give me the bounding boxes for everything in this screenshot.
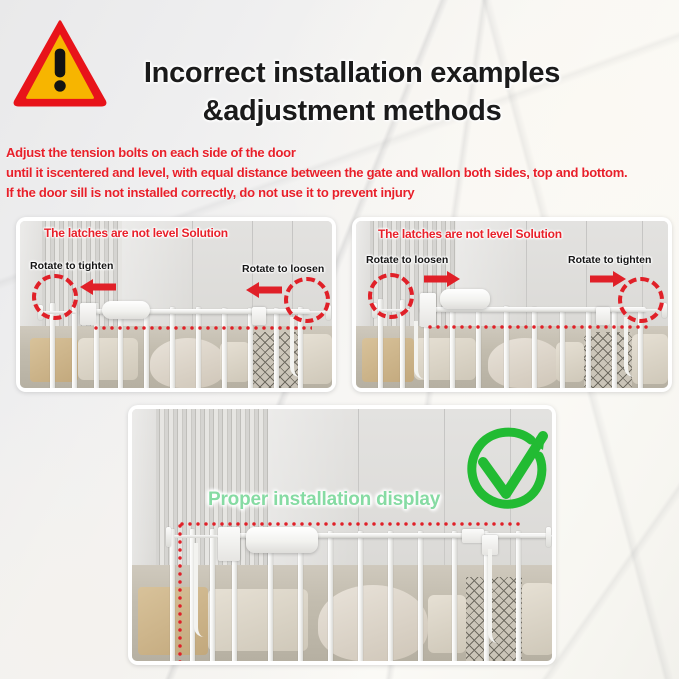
reference-line-right bbox=[426, 325, 648, 329]
panel-incorrect-left: The latches are not level Solution Rotat… bbox=[16, 217, 336, 392]
label-rotate-tighten-left: Rotate to tighten bbox=[30, 260, 113, 272]
title-line-1: Incorrect installation examples bbox=[112, 54, 592, 92]
highlight-circle-left-bolt bbox=[32, 274, 78, 320]
highlight-circle-right-bolt bbox=[284, 277, 330, 323]
green-check-circle-icon bbox=[459, 424, 551, 516]
reference-line-horizontal bbox=[178, 522, 522, 526]
label-rotate-tighten-right: Rotate to tighten bbox=[568, 254, 651, 266]
arrow-right-1 bbox=[424, 271, 460, 287]
panel-caption-left: The latches are not level Solution bbox=[44, 226, 228, 240]
instruction-line-1: Adjust the tension bolts on each side of… bbox=[6, 143, 678, 163]
warning-triangle-icon bbox=[12, 17, 108, 107]
arrow-left-2 bbox=[246, 282, 282, 298]
title-line-2: &adjustment methods bbox=[112, 92, 592, 130]
instruction-text: Adjust the tension bolts on each side of… bbox=[6, 143, 678, 203]
instruction-infographic: Incorrect installation examples &adjustm… bbox=[0, 0, 679, 679]
instruction-line-2: until it iscentered and level, with equa… bbox=[6, 163, 678, 183]
panel-proper-installation: Proper installation display bbox=[128, 405, 556, 665]
panel-caption-right: The latches are not level Solution bbox=[378, 227, 562, 241]
reference-line-left bbox=[92, 326, 312, 330]
page-title: Incorrect installation examples &adjustm… bbox=[112, 54, 592, 130]
arrow-right-2 bbox=[590, 271, 626, 287]
label-rotate-loosen-right: Rotate to loosen bbox=[366, 254, 448, 266]
reference-line-vertical bbox=[178, 522, 182, 661]
highlight-circle-left-bolt-2 bbox=[368, 273, 414, 319]
panel-incorrect-right: The latches are not level Solution Rotat… bbox=[352, 217, 672, 392]
label-rotate-loosen-left: Rotate to loosen bbox=[242, 263, 324, 275]
panel-caption-bottom: Proper installation display bbox=[208, 489, 440, 511]
arrow-left-1 bbox=[80, 279, 116, 295]
instruction-line-3: If the door sill is not installed correc… bbox=[6, 183, 678, 203]
